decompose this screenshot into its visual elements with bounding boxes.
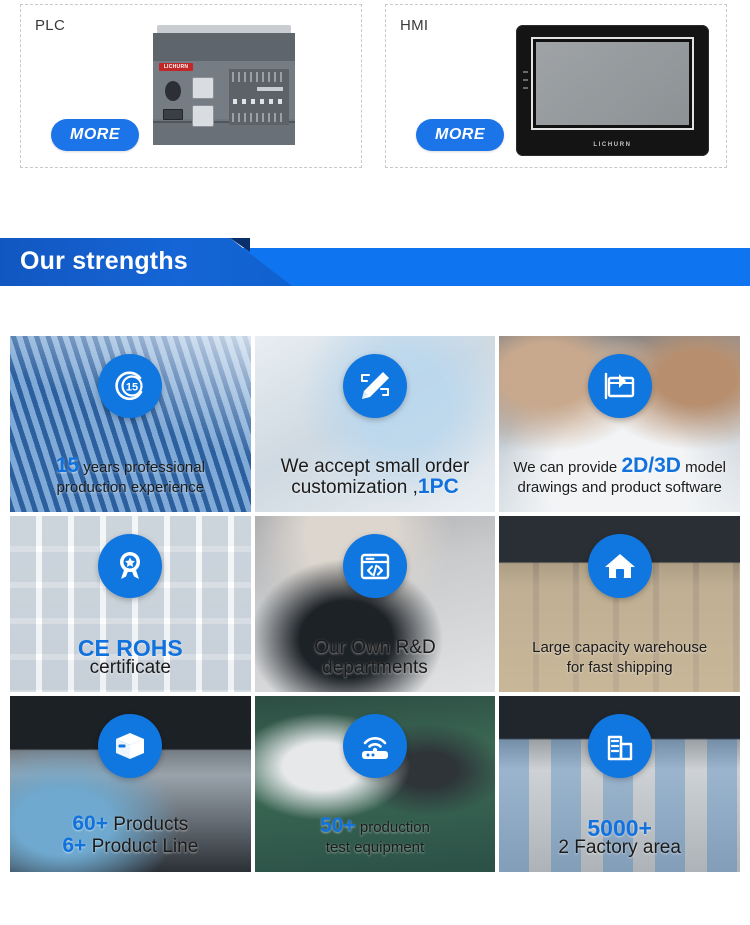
strength-text: Products bbox=[108, 814, 188, 835]
strength-text-line2: for fast shipping bbox=[503, 658, 736, 678]
strength-caption-small-order: We accept small order customization ,1PC bbox=[255, 457, 496, 498]
strength-cell-small-order[interactable]: We accept small order customization ,1PC bbox=[255, 336, 496, 512]
strength-caption-test-equipment: 50+ production test equipment bbox=[255, 816, 496, 858]
strength-highlight: CE ROHS bbox=[14, 638, 247, 658]
strength-text: years professional bbox=[79, 459, 205, 476]
drawing-board-icon bbox=[588, 354, 652, 418]
strength-cell-ce-rohs[interactable]: CE ROHS certificate bbox=[10, 516, 251, 692]
strength-cell-products-count[interactable]: 60+ Products 6+ Product Line bbox=[10, 696, 251, 872]
box-package-icon bbox=[98, 714, 162, 778]
strength-caption-15-years: 15 years professional production experie… bbox=[10, 456, 251, 498]
building-factory-icon bbox=[588, 714, 652, 778]
product-cards-row: PLC LICHURN MORE HMI bbox=[0, 0, 750, 178]
hmi-device-icon: LICHURN bbox=[516, 25, 709, 156]
strength-text-line2: departments bbox=[259, 658, 492, 678]
strengths-grid: 15 15 years professional production expe… bbox=[10, 336, 740, 872]
strength-caption-warehouse: Large capacity warehouse for fast shippi… bbox=[499, 638, 740, 678]
strength-cell-15-years[interactable]: 15 15 years professional production expe… bbox=[10, 336, 251, 512]
strength-highlight: 50+ bbox=[320, 814, 356, 837]
award-medal-icon bbox=[98, 534, 162, 598]
strength-text-2: Product Line bbox=[86, 836, 198, 857]
strength-caption-products: 60+ Products 6+ Product Line bbox=[10, 814, 251, 858]
strength-text-line2: certificate bbox=[14, 658, 247, 678]
product-card-plc[interactable]: PLC LICHURN MORE bbox=[20, 4, 362, 168]
more-button-hmi[interactable]: MORE bbox=[416, 119, 504, 151]
strength-text-line1: We accept small order bbox=[259, 457, 492, 477]
code-window-icon bbox=[343, 534, 407, 598]
strength-text-line1: Our Own R&D bbox=[259, 638, 492, 658]
strength-cell-factory-area[interactable]: 5000+ 2 Factory area bbox=[499, 696, 740, 872]
strength-text-line2: 2 Factory area bbox=[503, 838, 736, 858]
plc-device-icon: LICHURN bbox=[153, 25, 295, 153]
router-wifi-icon bbox=[343, 714, 407, 778]
strength-text-line1: Large capacity warehouse bbox=[503, 638, 736, 658]
strength-text-2: model bbox=[681, 459, 726, 476]
strength-text: customization , bbox=[291, 477, 418, 498]
strength-text: We can provide bbox=[513, 459, 621, 476]
product-card-title-plc: PLC bbox=[35, 17, 65, 34]
strength-highlight: 5000+ bbox=[503, 818, 736, 838]
strength-highlight: 2D/3D bbox=[621, 454, 681, 477]
strength-caption-rd: Our Own R&D departments bbox=[255, 638, 496, 678]
strength-cell-rd-department[interactable]: Our Own R&D departments bbox=[255, 516, 496, 692]
strength-highlight: 1PC bbox=[418, 475, 459, 498]
strength-highlight-2: 6+ bbox=[62, 834, 86, 857]
section-title: Our strengths bbox=[20, 247, 188, 276]
home-warehouse-icon bbox=[588, 534, 652, 598]
strength-text-line2: production experience bbox=[14, 478, 247, 498]
more-button-plc[interactable]: MORE bbox=[51, 119, 139, 151]
strength-cell-2d-3d-model[interactable]: We can provide 2D/3D model drawings and … bbox=[499, 336, 740, 512]
strength-highlight: 60+ bbox=[72, 812, 108, 835]
strength-caption-ce-rohs: CE ROHS certificate bbox=[10, 638, 251, 678]
strength-cell-warehouse[interactable]: Large capacity warehouse for fast shippi… bbox=[499, 516, 740, 692]
clock-15-icon: 15 bbox=[98, 354, 162, 418]
strength-text-line2: test equipment bbox=[259, 838, 492, 858]
product-card-hmi[interactable]: HMI LICHURN MORE bbox=[385, 4, 727, 168]
strength-text-line2: drawings and product software bbox=[503, 478, 736, 498]
strength-text: production bbox=[356, 819, 430, 836]
product-card-title-hmi: HMI bbox=[400, 17, 428, 34]
strength-highlight: 15 bbox=[56, 454, 79, 477]
svg-text:15: 15 bbox=[126, 382, 138, 394]
pencil-edit-icon bbox=[343, 354, 407, 418]
strength-caption-2d-3d: We can provide 2D/3D model drawings and … bbox=[499, 456, 740, 498]
hmi-brand-label: LICHURN bbox=[516, 142, 709, 148]
strength-cell-test-equipment[interactable]: 50+ production test equipment bbox=[255, 696, 496, 872]
plc-brand-label: LICHURN bbox=[159, 63, 193, 71]
strength-caption-factory-area: 5000+ 2 Factory area bbox=[499, 818, 740, 858]
section-banner-our-strengths: Our strengths bbox=[0, 238, 750, 294]
